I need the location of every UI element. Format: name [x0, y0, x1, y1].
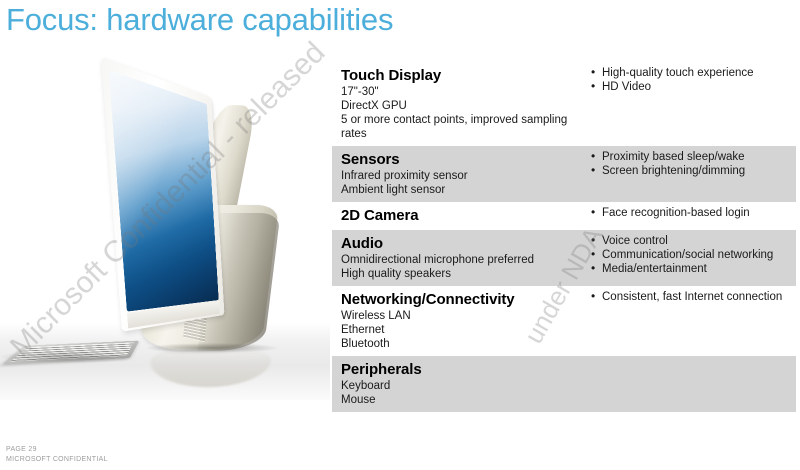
spec-left-cell: SensorsInfrared proximity sensorAmbient …: [332, 150, 580, 197]
spec-benefit-item: Communication/social networking: [590, 248, 796, 262]
spec-category-title: Peripherals: [341, 360, 580, 379]
spec-benefit-item: Screen brightening/dimming: [590, 164, 796, 178]
spec-benefit-list: Voice controlCommunication/social networ…: [590, 234, 796, 276]
spec-row: Touch Display17"-30"DirectX GPU5 or more…: [332, 62, 796, 146]
spec-benefit-item: Consistent, fast Internet connection: [590, 290, 796, 304]
spec-left-cell: 2D Camera: [332, 206, 580, 225]
spec-left-cell: AudioOmnidirectional microphone preferre…: [332, 234, 580, 281]
keyboard-shadow: [2, 351, 130, 363]
spec-category-title: 2D Camera: [341, 206, 580, 225]
spec-row: PeripheralsKeyboardMouse: [332, 356, 796, 412]
spec-detail-line: Keyboard: [341, 379, 580, 393]
spec-left-cell: Touch Display17"-30"DirectX GPU5 or more…: [332, 66, 580, 141]
spec-detail-line: Wireless LAN: [341, 309, 580, 323]
spec-left-cell: Networking/ConnectivityWireless LANEther…: [332, 290, 580, 351]
spec-benefit-item: Proximity based sleep/wake: [590, 150, 796, 164]
spec-benefit-item: Media/entertainment: [590, 262, 796, 276]
spec-row: AudioOmnidirectional microphone preferre…: [332, 230, 796, 286]
spec-right-cell: Voice controlCommunication/social networ…: [580, 234, 796, 276]
spec-benefit-list: Face recognition-based login: [590, 206, 796, 220]
spec-detail-line: DirectX GPU: [341, 99, 580, 113]
spec-detail-line: Omnidirectional microphone preferred: [341, 253, 580, 267]
pc-display-bezel: [101, 57, 224, 332]
confidentiality-label: MICROSOFT CONFIDENTIAL: [6, 455, 108, 465]
slide-footer: PAGE 29 MICROSOFT CONFIDENTIAL: [6, 445, 108, 464]
spec-detail-line: Bluetooth: [341, 337, 580, 351]
page-number: PAGE 29: [6, 445, 108, 455]
hardware-spec-table: Touch Display17"-30"DirectX GPU5 or more…: [332, 62, 796, 412]
spec-category-title: Networking/Connectivity: [341, 290, 580, 309]
spec-benefit-list: Proximity based sleep/wakeScreen brighte…: [590, 150, 796, 178]
spec-row: 2D CameraFace recognition-based login: [332, 202, 796, 230]
spec-detail-line: Ambient light sensor: [341, 183, 580, 197]
spec-benefit-list: Consistent, fast Internet connection: [590, 290, 796, 304]
spec-benefit-item: HD Video: [590, 80, 796, 94]
pc-display-screen: [109, 70, 219, 312]
spec-benefit-item: Face recognition-based login: [590, 206, 796, 220]
spec-detail-line: Ethernet: [341, 323, 580, 337]
spec-category-title: Touch Display: [341, 66, 580, 85]
spec-detail-line: rates: [341, 127, 580, 141]
spec-detail-line: 5 or more contact points, improved sampl…: [341, 113, 580, 127]
product-photo: [0, 55, 330, 400]
spec-benefit-item: High-quality touch experience: [590, 66, 796, 80]
spec-right-cell: High-quality touch experienceHD Video: [580, 66, 796, 94]
page-title: Focus: hardware capabilities: [6, 2, 393, 38]
spec-row: SensorsInfrared proximity sensorAmbient …: [332, 146, 796, 202]
spec-left-cell: PeripheralsKeyboardMouse: [332, 360, 580, 407]
spec-right-cell: Consistent, fast Internet connection: [580, 290, 796, 304]
spec-category-title: Sensors: [341, 150, 580, 169]
spec-benefit-list: High-quality touch experienceHD Video: [590, 66, 796, 94]
spec-row: Networking/ConnectivityWireless LANEther…: [332, 286, 796, 356]
spec-detail-line: 17"-30": [341, 85, 580, 99]
spec-benefit-item: Voice control: [590, 234, 796, 248]
spec-detail-line: Infrared proximity sensor: [341, 169, 580, 183]
spec-right-cell: Proximity based sleep/wakeScreen brighte…: [580, 150, 796, 178]
spec-category-title: Audio: [341, 234, 580, 253]
spec-right-cell: Face recognition-based login: [580, 206, 796, 220]
spec-detail-line: Mouse: [341, 393, 580, 407]
spec-detail-line: High quality speakers: [341, 267, 580, 281]
